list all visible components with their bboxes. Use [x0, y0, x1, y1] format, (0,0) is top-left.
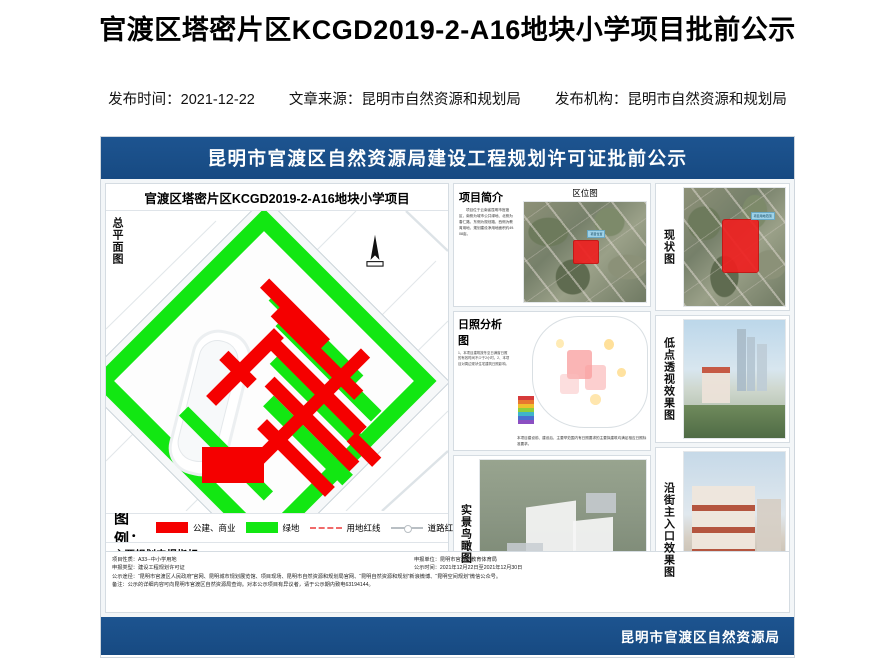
info-row-2: 申报类型：建设工程规划许可证 公示时间：2021年12月22日至2021年12月…: [112, 564, 783, 572]
article-source-value: 昆明市自然资源和规划局: [361, 92, 521, 108]
sunlight-analysis-cell: 日照分析图 1、本项目建筑按冬至日满窗日照的有效时间不少于2小时。2、本项目对周…: [453, 311, 651, 451]
info-application-type-label: 申报类型：: [112, 565, 138, 571]
sunlight-contour-map: [532, 316, 648, 428]
sunlight-text-block: 日照分析图 1、本项目建筑按冬至日满窗日照的有效时间不少于2小时。2、本项目对周…: [454, 312, 514, 450]
location-callout-label: 项目位置: [587, 230, 605, 238]
scale-step-7: [518, 420, 534, 424]
legend-label-land-redline: 用地红线: [347, 522, 381, 534]
north-arrow-icon: [364, 233, 386, 267]
site-plan-panel: 官渡区塔密片区KCGD2019-2-A16地块小学项目 总平面图: [105, 183, 449, 613]
sun-blob-7: [590, 394, 601, 405]
legend-label-green: 绿地: [283, 522, 300, 534]
info-project-nature-label: 项目性质：: [112, 557, 138, 563]
sun-blob-5: [617, 368, 626, 378]
sunlight-body: 1、本项目建筑按冬至日满窗日照的有效时间不少于2小时。2、本项目对周边现状住宅建…: [458, 351, 510, 367]
render-foreground-trees: [684, 405, 785, 438]
location-map-title: 区位图: [523, 187, 647, 199]
current-site-callout: 项目用地范围: [751, 212, 775, 220]
street-view-label: 沿街主入口效果图: [662, 482, 675, 578]
render-tower-1: [737, 329, 746, 390]
publish-time-label: 发布时间：: [108, 92, 181, 108]
article-meta: 发布时间：2021-12-22 文章来源：昆明市自然资源和规划局 发布机构：昆明…: [0, 88, 895, 109]
sun-blob-2: [585, 365, 606, 389]
info-publicity-period-label: 公示时间：: [414, 565, 440, 571]
poster-body: 官渡区塔密片区KCGD2019-2-A16地块小学项目 总平面图: [101, 179, 794, 617]
legend-swatch-commercial: [156, 522, 188, 533]
project-intro-body: 项目位于云南省昆明市官渡区，南侧为城市公共绿地、北侧为春仁路，东侧为规划路，西侧…: [459, 208, 516, 238]
page-title: 官渡区塔密片区KCGD2019-2-A16地块小学项目批前公示: [0, 8, 895, 47]
current-status-image: 项目用地范围: [683, 187, 786, 307]
sunlight-conclusion-note: 本项目建设前、建设后，主要举范围内有日照要求的主要拟建筑均满足相应日照标准要求。: [517, 436, 647, 447]
article-source-label: 文章来源：: [289, 92, 362, 108]
page-root: 官渡区塔密片区KCGD2019-2-A16地块小学项目批前公示 发布时间：202…: [0, 0, 895, 669]
current-site-polygon: [722, 219, 758, 273]
render-tower-3: [757, 344, 767, 391]
poster-header-title: 昆明市官渡区自然资源局建设工程规划许可证批前公示: [101, 137, 794, 179]
render-roof-accent: [702, 367, 730, 373]
site-plan-drawing: 总平面图: [106, 211, 448, 513]
publicity-poster: 昆明市官渡区自然资源局建设工程规划许可证批前公示 官渡区塔密片区KCGD2019…: [100, 136, 795, 658]
aerial-building-4: [586, 493, 616, 514]
project-site-marker: [573, 240, 599, 264]
current-status-cell: 现状图 项目用地范围: [655, 183, 790, 311]
legend-item-land-redline: 用地红线: [310, 522, 381, 534]
site-plan-legend: 图例： 公建、商业 绿地 用地红线 道: [106, 513, 448, 542]
street-building-band-1: [692, 505, 755, 511]
street-building-band-2: [692, 527, 755, 533]
publish-time: 发布时间：2021-12-22: [108, 88, 255, 109]
low-view-render-image: [683, 319, 786, 439]
aerial-photo-label: 实景鸟瞰图: [459, 504, 472, 564]
legend-label-commercial: 公建、商业: [193, 522, 236, 534]
publish-agency-value: 昆明市自然资源和规划局: [627, 92, 787, 108]
project-intro-text-block: 项目简介 项目位于云南省昆明市官渡区，南侧为城市公共绿地、北侧为春仁路，东侧为规…: [454, 184, 520, 306]
legend-swatch-green: [246, 522, 278, 533]
info-publicity-period: 公示时间：2021年12月22日至2021年12月30日: [414, 564, 783, 572]
sunlight-heading: 日照分析图: [458, 316, 510, 348]
article-source: 文章来源：昆明市自然资源和规划局: [289, 88, 521, 109]
location-map-image: 项目位置: [523, 201, 647, 303]
current-status-label: 现状图: [662, 229, 675, 265]
right-column: 现状图 项目用地范围 低点透视效果图: [655, 183, 790, 613]
project-intro-heading: 项目简介: [459, 189, 516, 205]
info-remark: 备注：公示的详细内容可向昆明市官渡区自然资源局查询。对本公示项目有异议者，请于公…: [112, 581, 783, 589]
low-view-render-cell: 低点透视效果图: [655, 315, 790, 443]
info-application-type-value: 建设工程规划许可证: [138, 565, 185, 571]
middle-column: 项目简介 项目位于云南省昆明市官渡区，南侧为城市公共绿地、北侧为春仁路，东侧为规…: [453, 183, 651, 613]
sunlight-color-scale: [518, 396, 534, 424]
site-plan-vertical-label: 总平面图: [110, 217, 123, 265]
poster-footer-title: 昆明市官渡区自然资源局: [101, 617, 794, 655]
sun-blob-6: [556, 339, 564, 348]
info-project-nature: 项目性质：A33--中小学用地: [112, 556, 414, 564]
legend-swatch-land-redline: [310, 527, 342, 529]
info-publicity-period-value: 2021年12月22日至2021年12月30日: [440, 565, 522, 571]
info-row-1: 项目性质：A33--中小学用地 申报单位：昆明市官渡区教育体育局: [112, 556, 783, 564]
render-tower-2: [747, 337, 755, 391]
info-application-type: 申报类型：建设工程规划许可证: [112, 564, 414, 572]
sunlight-diagram: 本项目建设前、建设后，主要举范围内有日照要求的主要拟建筑均满足相应日照标准要求。: [514, 312, 650, 450]
low-view-label: 低点透视效果图: [662, 337, 675, 421]
sun-blob-3: [560, 374, 578, 394]
publish-agency-label: 发布机构：: [555, 92, 628, 108]
publish-agency: 发布机构：昆明市自然资源和规划局: [555, 88, 787, 109]
legend-item-road-redline: 道路红线: [391, 522, 462, 534]
info-publicity-channel: 公示途径：“昆明市官渡区人民政府”官网、昆明城市规划展览馆、项目现场、昆明市自然…: [112, 573, 783, 581]
info-project-nature-value: A33--中小学用地: [138, 557, 177, 563]
legend-item-green: 绿地: [246, 522, 300, 534]
site-plan-title: 官渡区塔密片区KCGD2019-2-A16地块小学项目: [106, 184, 448, 211]
low-view-label-wrap: 低点透视效果图: [656, 316, 680, 442]
legend-item-commercial: 公建、商业: [156, 522, 236, 534]
location-map-block: 区位图 项目位置: [520, 184, 650, 306]
legend-swatch-road-redline: [391, 527, 423, 529]
sun-blob-4: [604, 339, 614, 350]
publish-time-value: 2021-12-22: [181, 92, 255, 108]
publicity-info-strip: 项目性质：A33--中小学用地 申报单位：昆明市官渡区教育体育局 申报类型：建设…: [105, 551, 790, 613]
info-applicant-unit-label: 申报单位：: [414, 557, 440, 563]
current-status-label-wrap: 现状图: [656, 184, 680, 310]
project-intro-cell: 项目简介 项目位于云南省昆明市官渡区，南侧为城市公共绿地、北侧为春仁路，东侧为规…: [453, 183, 651, 307]
building-block-9: [202, 447, 264, 483]
